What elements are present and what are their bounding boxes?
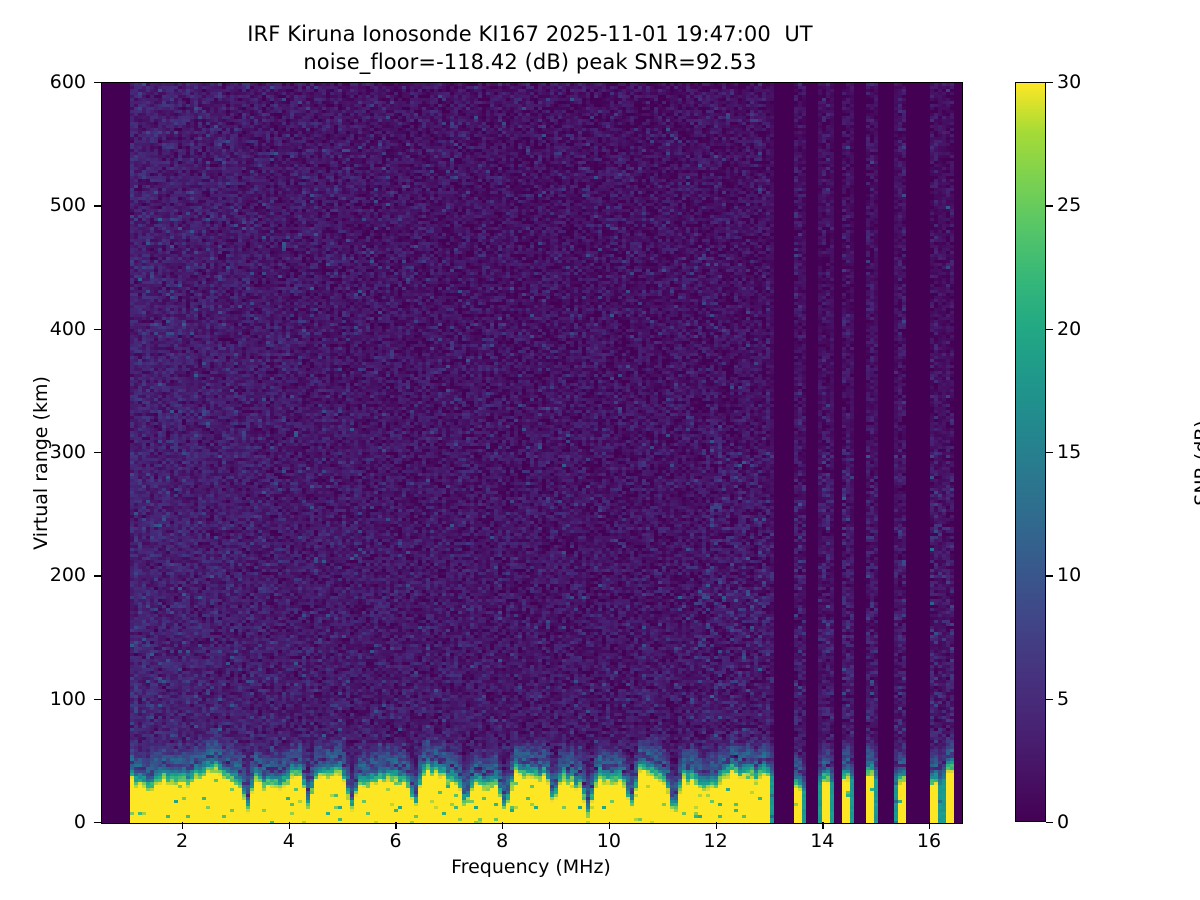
y-tick-label: 300 (0, 441, 86, 463)
y-tick-mark (94, 329, 101, 330)
y-tick-label: 500 (0, 194, 86, 216)
ionogram-figure: IRF Kiruna Ionosonde KI167 2025-11-01 19… (0, 0, 1200, 900)
x-tick-label: 2 (142, 830, 222, 852)
y-tick-label: 100 (0, 688, 86, 710)
colorbar-tick-label: 25 (1057, 194, 1081, 216)
y-tick-mark (94, 575, 101, 576)
colorbar-tick-mark (1046, 575, 1053, 576)
colorbar-tick-label: 30 (1057, 71, 1081, 93)
x-tick-mark (609, 822, 610, 829)
colorbar-tick-label: 0 (1057, 811, 1069, 833)
colorbar-tick-label: 5 (1057, 688, 1069, 710)
colorbar-tick-mark (1046, 452, 1053, 453)
title-line-1: IRF Kiruna Ionosonde KI167 2025-11-01 19… (0, 20, 1060, 48)
colorbar-tick-mark (1046, 205, 1053, 206)
figure-title: IRF Kiruna Ionosonde KI167 2025-11-01 19… (0, 20, 1060, 76)
colorbar-tick-label: 15 (1057, 441, 1081, 463)
y-tick-label: 0 (0, 811, 86, 833)
y-tick-mark (94, 82, 101, 83)
x-tick-label: 12 (676, 830, 756, 852)
x-tick-label: 8 (462, 830, 542, 852)
colorbar[interactable]: 302520151050 (1015, 82, 1046, 822)
x-tick-label: 4 (249, 830, 329, 852)
colorbar-tick-label: 10 (1057, 564, 1081, 586)
colorbar-tick-mark (1046, 329, 1053, 330)
x-tick-mark (289, 822, 290, 829)
plot-area[interactable] (101, 82, 963, 824)
colorbar-tick-mark (1046, 82, 1053, 83)
x-tick-mark (395, 822, 396, 829)
colorbar-label: SNR (dB) (1191, 343, 1200, 583)
x-tick-mark (182, 822, 183, 829)
y-tick-mark (94, 699, 101, 700)
title-line-2: noise_floor=-118.42 (dB) peak SNR=92.53 (0, 48, 1060, 76)
colorbar-tick-label: 20 (1057, 318, 1081, 340)
x-tick-label: 10 (569, 830, 649, 852)
ionogram-heatmap-canvas[interactable] (102, 83, 962, 823)
y-tick-label: 200 (0, 564, 86, 586)
colorbar-tick-mark (1046, 822, 1053, 823)
y-axis-label: Virtual range (km) (30, 343, 52, 583)
x-tick-label: 16 (889, 830, 969, 852)
y-tick-label: 400 (0, 318, 86, 340)
colorbar-tick-mark (1046, 699, 1053, 700)
x-tick-mark (716, 822, 717, 829)
y-tick-mark (94, 822, 101, 823)
y-tick-label: 600 (0, 71, 86, 93)
x-tick-label: 6 (355, 830, 435, 852)
colorbar-gradient (1015, 82, 1046, 822)
x-axis-label: Frequency (MHz) (101, 856, 961, 878)
y-tick-mark (94, 205, 101, 206)
x-tick-mark (502, 822, 503, 829)
x-tick-mark (822, 822, 823, 829)
x-tick-label: 14 (782, 830, 862, 852)
x-tick-mark (929, 822, 930, 829)
y-tick-mark (94, 452, 101, 453)
